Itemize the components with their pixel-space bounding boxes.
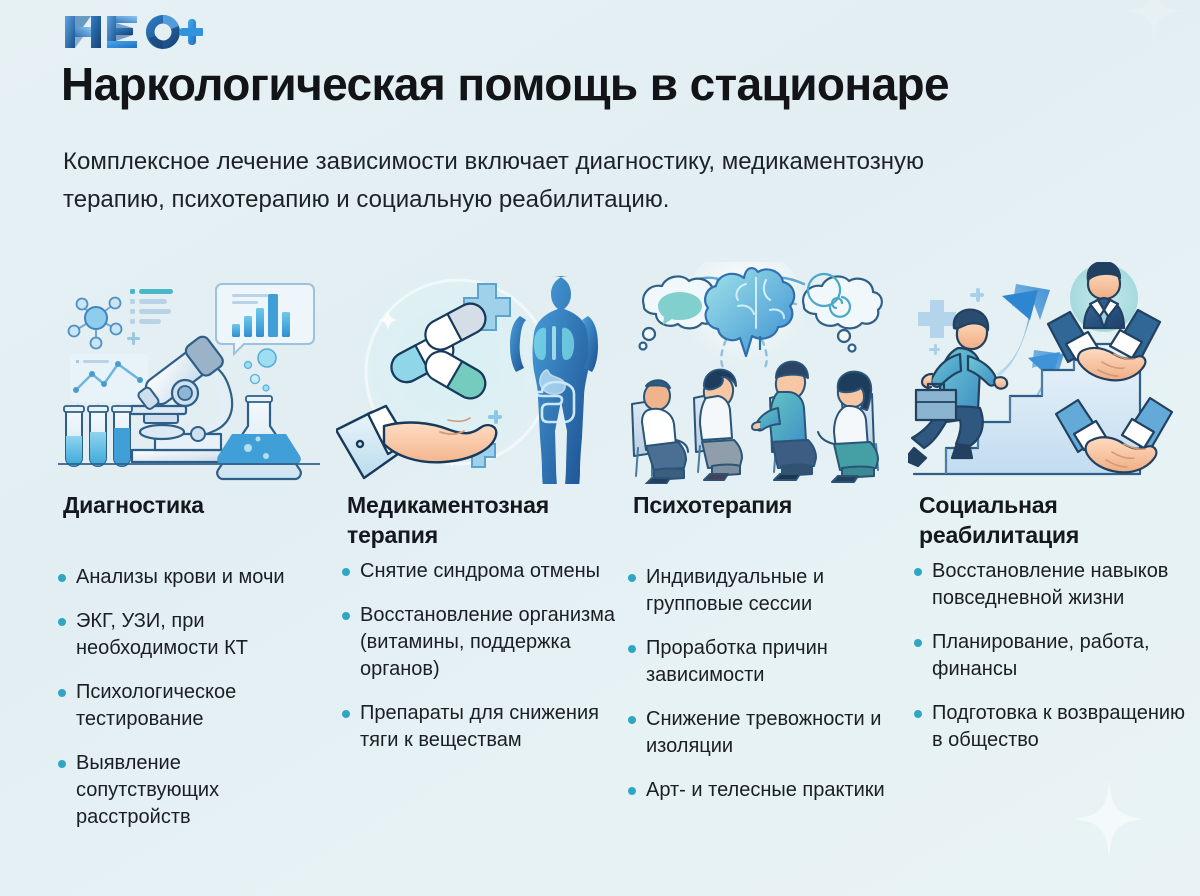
bullet-dot-icon — [342, 612, 350, 620]
bullet-dot-icon — [628, 574, 636, 582]
list-item: Снижение тревожности и изоляции — [622, 706, 906, 760]
sparkle-icon-secondary — [1126, 0, 1182, 42]
list-item: Восстановление организма (витамины, подд… — [336, 602, 618, 683]
bullet-dot-icon — [342, 568, 350, 576]
brand-logo[interactable] — [63, 10, 203, 54]
laboratory-diagnostics-illustration — [52, 262, 328, 484]
bullet-dot-icon — [628, 787, 636, 795]
sparkle-icon — [1074, 780, 1144, 858]
group-psychotherapy-illustration — [622, 262, 906, 484]
list-item: Психологическое тестирование — [52, 679, 328, 733]
list-item-text: Восстановление навыков повседневной жизн… — [932, 560, 1168, 609]
list-item-text: Психологическое тестирование — [76, 681, 236, 730]
list-item: Проработка причин зависимости — [622, 635, 906, 689]
bullet-dot-icon — [58, 574, 66, 582]
bullet-list: Снятие синдрома отмены Восстановление ор… — [336, 558, 618, 754]
list-item: Снятие синдрома отмены — [336, 558, 618, 585]
bullet-dot-icon — [628, 716, 636, 724]
bullet-dot-icon — [914, 639, 922, 647]
column-heading: Диагностика — [63, 490, 328, 552]
column-heading: Медикаментозная терапия — [347, 490, 618, 552]
bullet-list: Восстановление навыков повседневной жизн… — [908, 558, 1196, 754]
list-item-text: Снятие синдрома отмены — [360, 560, 600, 582]
list-item-text: Снижение тревожности и изоляции — [646, 708, 881, 757]
list-item-text: ЭКГ, УЗИ, при необходимости КТ — [76, 610, 248, 659]
column-medication-therapy: Медикаментозная терапия Снятие синдрома … — [336, 262, 618, 771]
column-diagnostics: Диагностика Анализы крови и мочи ЭКГ, УЗ… — [52, 262, 328, 848]
column-heading: Психотерапия — [633, 490, 906, 552]
column-heading: Социальная реабилитация — [919, 490, 1196, 552]
list-item-text: Проработка причин зависимости — [646, 637, 828, 686]
list-item-text: Индивидуальные и групповые сессии — [646, 566, 824, 615]
list-item: Планирование, работа, финансы — [908, 629, 1196, 683]
page-subtitle: Комплексное лечение зависимости включает… — [63, 143, 963, 219]
social-rehabilitation-illustration — [908, 262, 1196, 484]
list-item-text: Арт- и телесные практики — [646, 779, 885, 801]
list-item-text: Выявление сопутствующих расстройств — [76, 752, 219, 828]
list-item: Препараты для снижения тяги к веществам — [336, 700, 618, 754]
infographic-page: Наркологическая помощь в стационаре Комп… — [0, 0, 1200, 896]
bullet-list: Индивидуальные и групповые сессии Прораб… — [622, 564, 906, 804]
bullet-dot-icon — [914, 710, 922, 718]
bullet-dot-icon — [58, 760, 66, 768]
bullet-dot-icon — [628, 645, 636, 653]
bullet-list: Анализы крови и мочи ЭКГ, УЗИ, при необх… — [52, 564, 328, 831]
column-psychotherapy: Психотерапия Индивидуальные и групповые … — [622, 262, 906, 821]
medication-therapy-illustration — [336, 262, 618, 484]
bullet-dot-icon — [58, 689, 66, 697]
column-social-rehabilitation: Социальная реабилитация Восстановление н… — [908, 262, 1196, 771]
list-item: Арт- и телесные практики — [622, 777, 906, 804]
list-item: Выявление сопутствующих расстройств — [52, 750, 328, 831]
bullet-dot-icon — [342, 710, 350, 718]
list-item: ЭКГ, УЗИ, при необходимости КТ — [52, 608, 328, 662]
list-item-text: Восстановление организма (витамины, подд… — [360, 604, 615, 680]
list-item: Подготовка к возвращению в общество — [908, 700, 1196, 754]
bullet-dot-icon — [58, 618, 66, 626]
list-item: Восстановление навыков повседневной жизн… — [908, 558, 1196, 612]
page-title: Наркологическая помощь в стационаре — [61, 57, 1161, 111]
list-item: Анализы крови и мочи — [52, 564, 328, 591]
list-item-text: Анализы крови и мочи — [76, 566, 285, 588]
list-item-text: Подготовка к возвращению в общество — [932, 702, 1185, 751]
list-item-text: Препараты для снижения тяги к веществам — [360, 702, 599, 751]
bullet-dot-icon — [914, 568, 922, 576]
list-item: Индивидуальные и групповые сессии — [622, 564, 906, 618]
list-item-text: Планирование, работа, финансы — [932, 631, 1150, 680]
